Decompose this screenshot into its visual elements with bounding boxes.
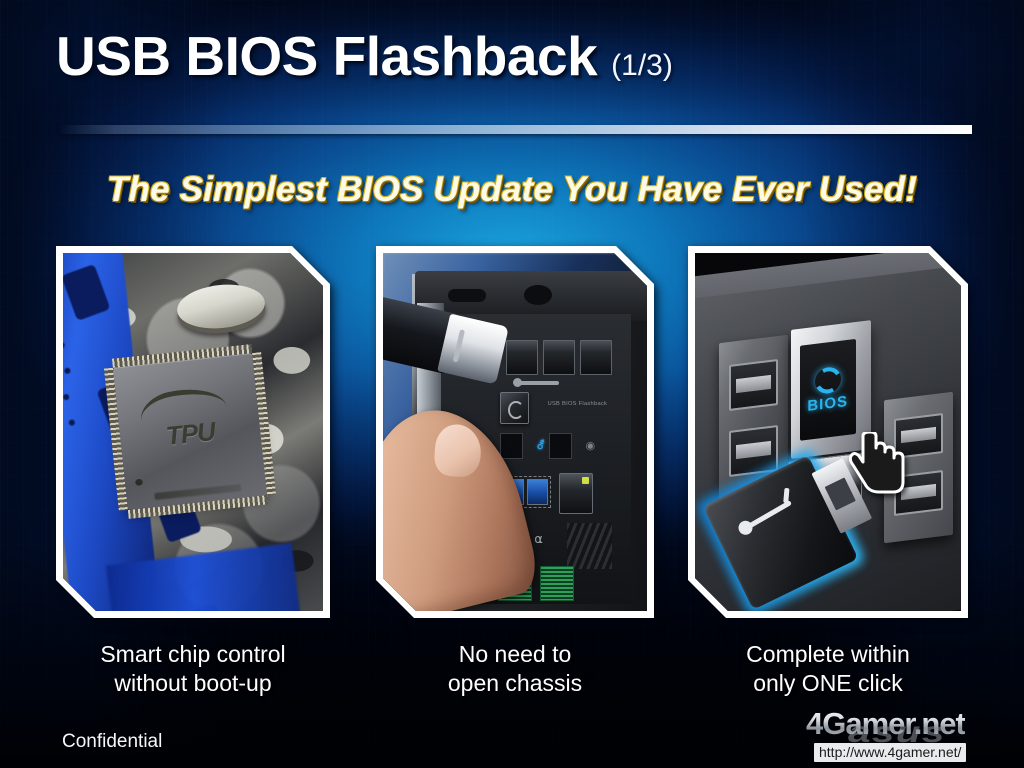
panel-group: TPU: [0, 246, 1024, 618]
presentation-slide: USB BIOS Flashback (1/3) The Simplest BI…: [0, 0, 1024, 768]
photo-frame: TPU: [56, 246, 330, 618]
usb-symbol-icon: [746, 500, 793, 530]
4gamer-brand-watermark: 4Gamer.net: [806, 706, 965, 742]
wifi-antenna-icon: ◉: [586, 439, 596, 452]
caption-line: without boot-up: [56, 669, 330, 698]
audio-jack: [540, 566, 574, 601]
caption-line: open chassis: [376, 669, 654, 698]
io-block-right: [549, 433, 572, 459]
caption-line: No need to: [376, 640, 654, 669]
usb-port: [543, 340, 575, 375]
panel-caption-1: Smart chip control without boot-up: [56, 640, 330, 698]
confidential-label: Confidential: [62, 731, 162, 753]
fingernail: [432, 423, 481, 478]
headphone-icon: ⍺: [534, 531, 543, 547]
usb-symbol-icon: [517, 381, 559, 385]
io-block-left: [500, 433, 523, 459]
photo-frame-inner: BIOS: [695, 253, 961, 611]
tpu-chip-label: TPU: [165, 417, 217, 453]
panel-bios-illustration: BIOS: [688, 246, 968, 618]
panel-caption-3: Complete within only ONE click: [688, 640, 968, 698]
watermark: asus 4Gamer.net http://www.4gamer.net/: [806, 706, 1018, 764]
usb-port: [506, 340, 538, 375]
photo-frame-inner: TPU: [63, 253, 323, 611]
rear-io-photo: USB BIOS Flashback ⚦ ◉: [383, 253, 647, 611]
photo-frame-inner: USB BIOS Flashback ⚦ ◉: [383, 253, 647, 611]
panel-tpu-chip: TPU: [56, 246, 330, 618]
4gamer-url-watermark: http://www.4gamer.net/: [814, 743, 966, 762]
hand-cursor-icon: [849, 432, 909, 498]
panel-rear-io-button: USB BIOS Flashback ⚦ ◉: [376, 246, 654, 618]
usb-bios-flashback-label: USB BIOS Flashback: [547, 401, 607, 407]
slide-header: USB BIOS Flashback (1/3): [56, 24, 673, 88]
caption-line: Complete within: [688, 640, 968, 669]
chassis-vent-grille: [567, 523, 613, 569]
chip-pin1-marker: [135, 478, 144, 487]
bios-flashback-button[interactable]: [500, 392, 529, 424]
tpu-chip-photo: TPU: [63, 253, 323, 611]
bios-button-face: BIOS: [800, 338, 856, 440]
photo-frame: BIOS: [688, 246, 968, 618]
slide-subtitle: The Simplest BIOS Update You Have Ever U…: [0, 170, 1024, 210]
usb3-port: [527, 479, 548, 505]
header-divider-rule: [60, 125, 972, 134]
photo-frame: USB BIOS Flashback ⚦ ◉: [376, 246, 654, 618]
usb2-port-row: [506, 340, 612, 375]
caption-line: only ONE click: [688, 669, 968, 698]
panel-caption-2: No need to open chassis: [376, 640, 654, 698]
chip-part-number: [155, 484, 242, 500]
usb-port: [729, 359, 779, 411]
bluetooth-icon: ⚦: [536, 439, 545, 452]
usb-port: [580, 340, 612, 375]
ethernet-lan-port: [559, 473, 593, 514]
bios-flashback-illustration: BIOS: [695, 253, 961, 611]
bios-button-label: BIOS: [807, 392, 848, 414]
tpu-chip-package: TPU: [113, 353, 268, 510]
page-counter: (1/3): [611, 49, 673, 83]
page-title: USB BIOS Flashback: [56, 24, 597, 88]
caption-line: Smart chip control: [56, 640, 330, 669]
refresh-arrows-icon: [811, 365, 844, 396]
